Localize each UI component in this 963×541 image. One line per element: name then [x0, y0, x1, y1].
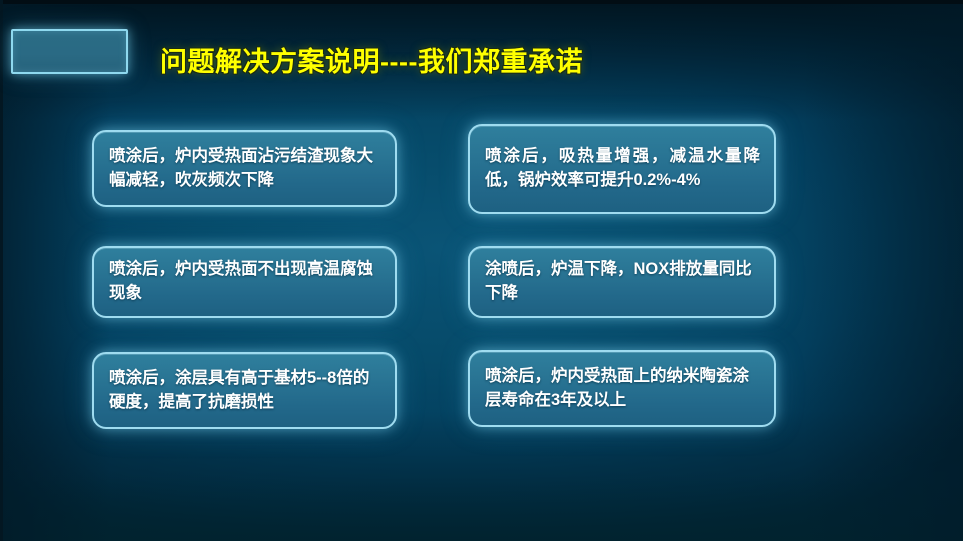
benefit-card-3-text: 喷涂后，炉内受热面不出现高温腐蚀现象: [109, 258, 381, 306]
letterbox-left-edge: [0, 0, 3, 541]
benefit-card-1-text: 喷涂后，炉内受热面沾污结渣现象大幅减轻，吹灰频次下降: [109, 145, 381, 193]
benefit-card-2: 喷涂后，吸热量增强，减温水量降低，锅炉效率可提升0.2%-4%: [468, 124, 776, 214]
benefit-card-2-text: 喷涂后，吸热量增强，减温水量降低，锅炉效率可提升0.2%-4%: [485, 145, 760, 193]
benefit-card-4: 涂喷后，炉温下降，NOX排放量同比下降: [468, 246, 776, 318]
decorative-outline-box: [11, 29, 128, 74]
presentation-slide: 问题解决方案说明----我们郑重承诺 喷涂后，炉内受热面沾污结渣现象大幅减轻，吹…: [0, 0, 963, 541]
benefit-card-6: 喷涂后，炉内受热面上的纳米陶瓷涂层寿命在3年及以上: [468, 350, 776, 427]
background-right-shade: [803, 0, 963, 541]
benefit-card-6-text: 喷涂后，炉内受热面上的纳米陶瓷涂层寿命在3年及以上: [485, 365, 760, 413]
benefit-card-3: 喷涂后，炉内受热面不出现高温腐蚀现象: [92, 246, 397, 318]
slide-title: 问题解决方案说明----我们郑重承诺: [160, 40, 583, 79]
benefit-card-5-text: 喷涂后，涂层具有高于基材5--8倍的硬度，提高了抗磨损性: [109, 367, 381, 415]
benefit-card-5: 喷涂后，涂层具有高于基材5--8倍的硬度，提高了抗磨损性: [92, 352, 397, 429]
benefit-card-1: 喷涂后，炉内受热面沾污结渣现象大幅减轻，吹灰频次下降: [92, 130, 397, 207]
letterbox-top-edge: [0, 0, 963, 4]
benefit-card-4-text: 涂喷后，炉温下降，NOX排放量同比下降: [485, 258, 760, 306]
